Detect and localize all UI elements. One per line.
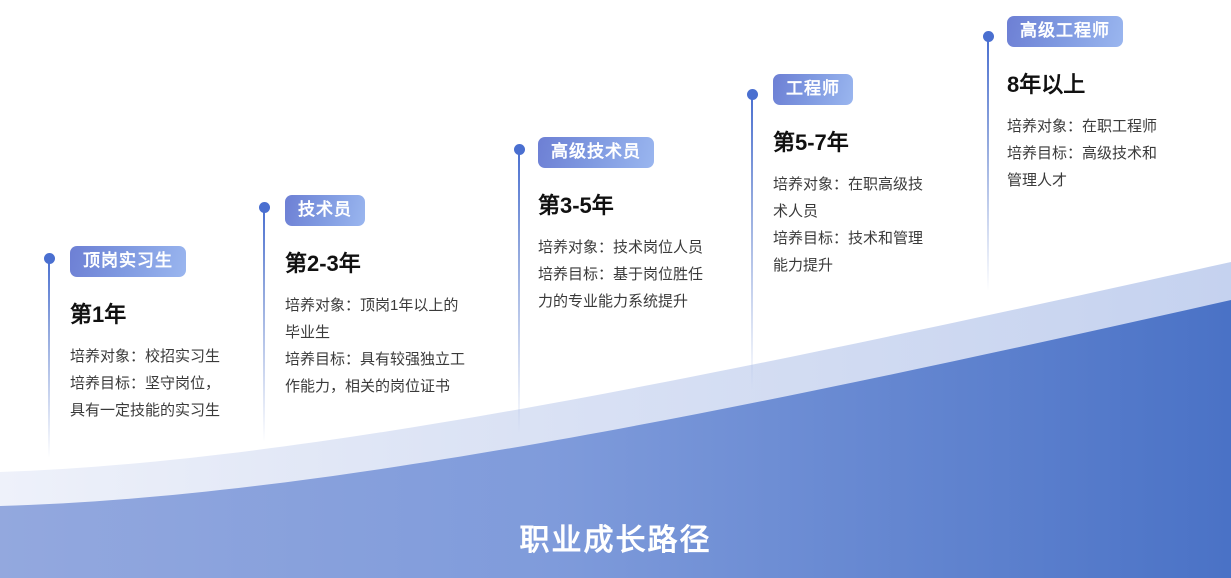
- stage-rule-3: [518, 149, 520, 434]
- stage-dot-4: [747, 89, 758, 100]
- stage-body-line: 培养对象：技术岗位人员: [538, 234, 753, 261]
- stage-column-2: 技术员 第2-3年 培养对象：顶岗1年以上的 毕业生 培养目标：具有较强独立工 …: [285, 195, 505, 401]
- stage-pill-1[interactable]: 顶岗实习生: [70, 246, 186, 277]
- banner-title: 职业成长路径: [0, 515, 1231, 559]
- stage-rule-2: [263, 207, 265, 442]
- stage-heading-4: 第5-7年: [773, 125, 973, 157]
- stage-body-4: 培养对象：在职高级技 术人员 培养目标：技术和管理 能力提升: [773, 171, 973, 280]
- stage-body-5: 培养对象：在职工程师 培养目标：高级技术和 管理人才: [1007, 113, 1212, 195]
- stage-heading-2: 第2-3年: [285, 246, 505, 278]
- stage-rule-1: [48, 258, 50, 458]
- stage-body-line: 培养目标：高级技术和: [1007, 140, 1212, 167]
- stage-dot-3: [514, 144, 525, 155]
- stage-body-line: 培养目标：具有较强独立工: [285, 346, 505, 373]
- stage-dot-5: [983, 31, 994, 42]
- stage-column-1: 顶岗实习生 第1年 培养对象：校招实习生 培养目标：坚守岗位， 具有一定技能的实…: [70, 246, 255, 424]
- stage-body-line: 培养对象：校招实习生: [70, 343, 255, 370]
- stage-body-line: 能力提升: [773, 252, 973, 279]
- stage-pill-2[interactable]: 技术员: [285, 195, 365, 226]
- stage-body-line: 管理人才: [1007, 167, 1212, 194]
- stage-body-line: 术人员: [773, 198, 973, 225]
- stage-column-3: 高级技术员 第3-5年 培养对象：技术岗位人员 培养目标：基于岗位胜任 力的专业…: [538, 137, 753, 315]
- stage-pill-3[interactable]: 高级技术员: [538, 137, 654, 168]
- stage-dot-1: [44, 253, 55, 264]
- stage-rule-5: [987, 36, 989, 291]
- stage-pill-4[interactable]: 工程师: [773, 74, 853, 105]
- stage-body-1: 培养对象：校招实习生 培养目标：坚守岗位， 具有一定技能的实习生: [70, 343, 255, 425]
- stage-body-line: 力的专业能力系统提升: [538, 288, 753, 315]
- stage-dot-2: [259, 202, 270, 213]
- stage-body-line: 具有一定技能的实习生: [70, 397, 255, 424]
- stage-column-4: 工程师 第5-7年 培养对象：在职高级技 术人员 培养目标：技术和管理 能力提升: [773, 74, 973, 280]
- stage-body-line: 培养目标：基于岗位胜任: [538, 261, 753, 288]
- stage-body-line: 培养对象：顶岗1年以上的: [285, 292, 505, 319]
- stage-body-line: 培养目标：坚守岗位，: [70, 370, 255, 397]
- stage-heading-1: 第1年: [70, 297, 255, 329]
- stage-body-line: 作能力，相关的岗位证书: [285, 373, 505, 400]
- stage-heading-3: 第3-5年: [538, 188, 753, 220]
- stage-column-5: 高级工程师 8年以上 培养对象：在职工程师 培养目标：高级技术和 管理人才: [1007, 16, 1212, 194]
- stage-body-line: 培养对象：在职工程师: [1007, 113, 1212, 140]
- stage-body-line: 培养目标：技术和管理: [773, 225, 973, 252]
- stage-pill-5[interactable]: 高级工程师: [1007, 16, 1123, 47]
- stage-body-line: 培养对象：在职高级技: [773, 171, 973, 198]
- stage-body-line: 毕业生: [285, 319, 505, 346]
- stage-body-3: 培养对象：技术岗位人员 培养目标：基于岗位胜任 力的专业能力系统提升: [538, 234, 753, 316]
- stage-body-2: 培养对象：顶岗1年以上的 毕业生 培养目标：具有较强独立工 作能力，相关的岗位证…: [285, 292, 505, 401]
- stage-heading-5: 8年以上: [1007, 67, 1212, 99]
- career-growth-infographic: 职业成长路径 顶岗实习生 第1年 培养对象：校招实习生 培养目标：坚守岗位， 具…: [0, 0, 1231, 578]
